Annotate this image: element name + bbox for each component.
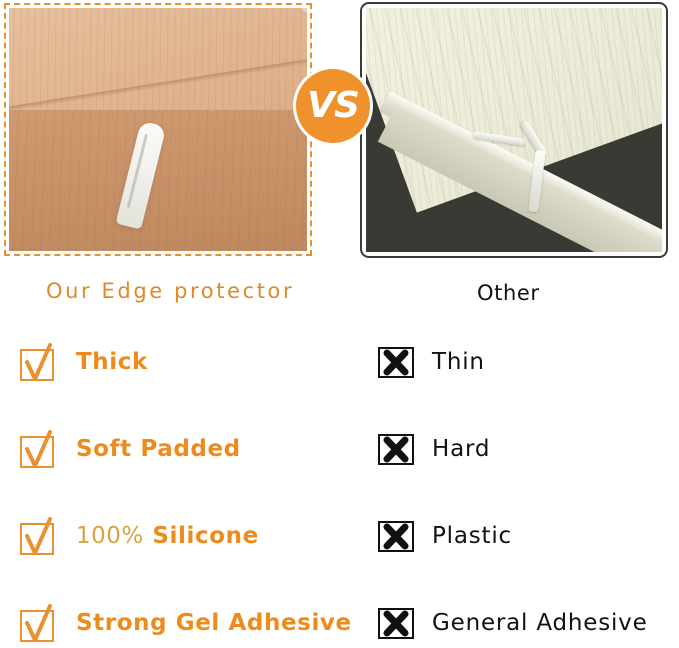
x-icon [378,606,414,640]
feature-label-ours-3-text: Silicone [152,523,258,549]
x-icon [378,345,414,379]
feature-label-ours-3-prefix: 100% [76,523,144,549]
vs-badge: VS [296,69,370,143]
x-icon [378,519,414,553]
feature-label-other-3: Plastic [432,525,512,548]
check-icon [20,517,58,555]
feature-row-other-2: Hard [378,426,490,472]
x-icon [378,432,414,466]
feature-row-other-3: Plastic [378,513,512,559]
feature-row-ours-4: Strong Gel Adhesive [20,600,352,646]
comparison-infographic: VS Our Edge protector Other Thick Thin [0,0,679,643]
feature-row-ours-3: 100% Silicone [20,513,259,559]
feature-label-ours-4: Strong Gel Adhesive [76,612,352,635]
feature-label-other-4: General Adhesive [432,612,648,635]
feature-row-other-4: General Adhesive [378,600,648,646]
feature-row-ours-2: Soft Padded [20,426,241,472]
check-icon [20,343,58,381]
vs-badge-label: VS [307,88,359,124]
check-icon [20,430,58,468]
feature-label-ours-3: 100% Silicone [76,525,259,548]
feature-label-ours-2: Soft Padded [76,438,241,461]
feature-label-other-1: Thin [432,351,485,374]
feature-label-ours-1: Thick [76,351,148,374]
feature-label-other-2: Hard [432,438,490,461]
check-icon [20,604,58,642]
feature-row-other-1: Thin [378,339,485,385]
feature-row-ours-1: Thick [20,339,148,385]
